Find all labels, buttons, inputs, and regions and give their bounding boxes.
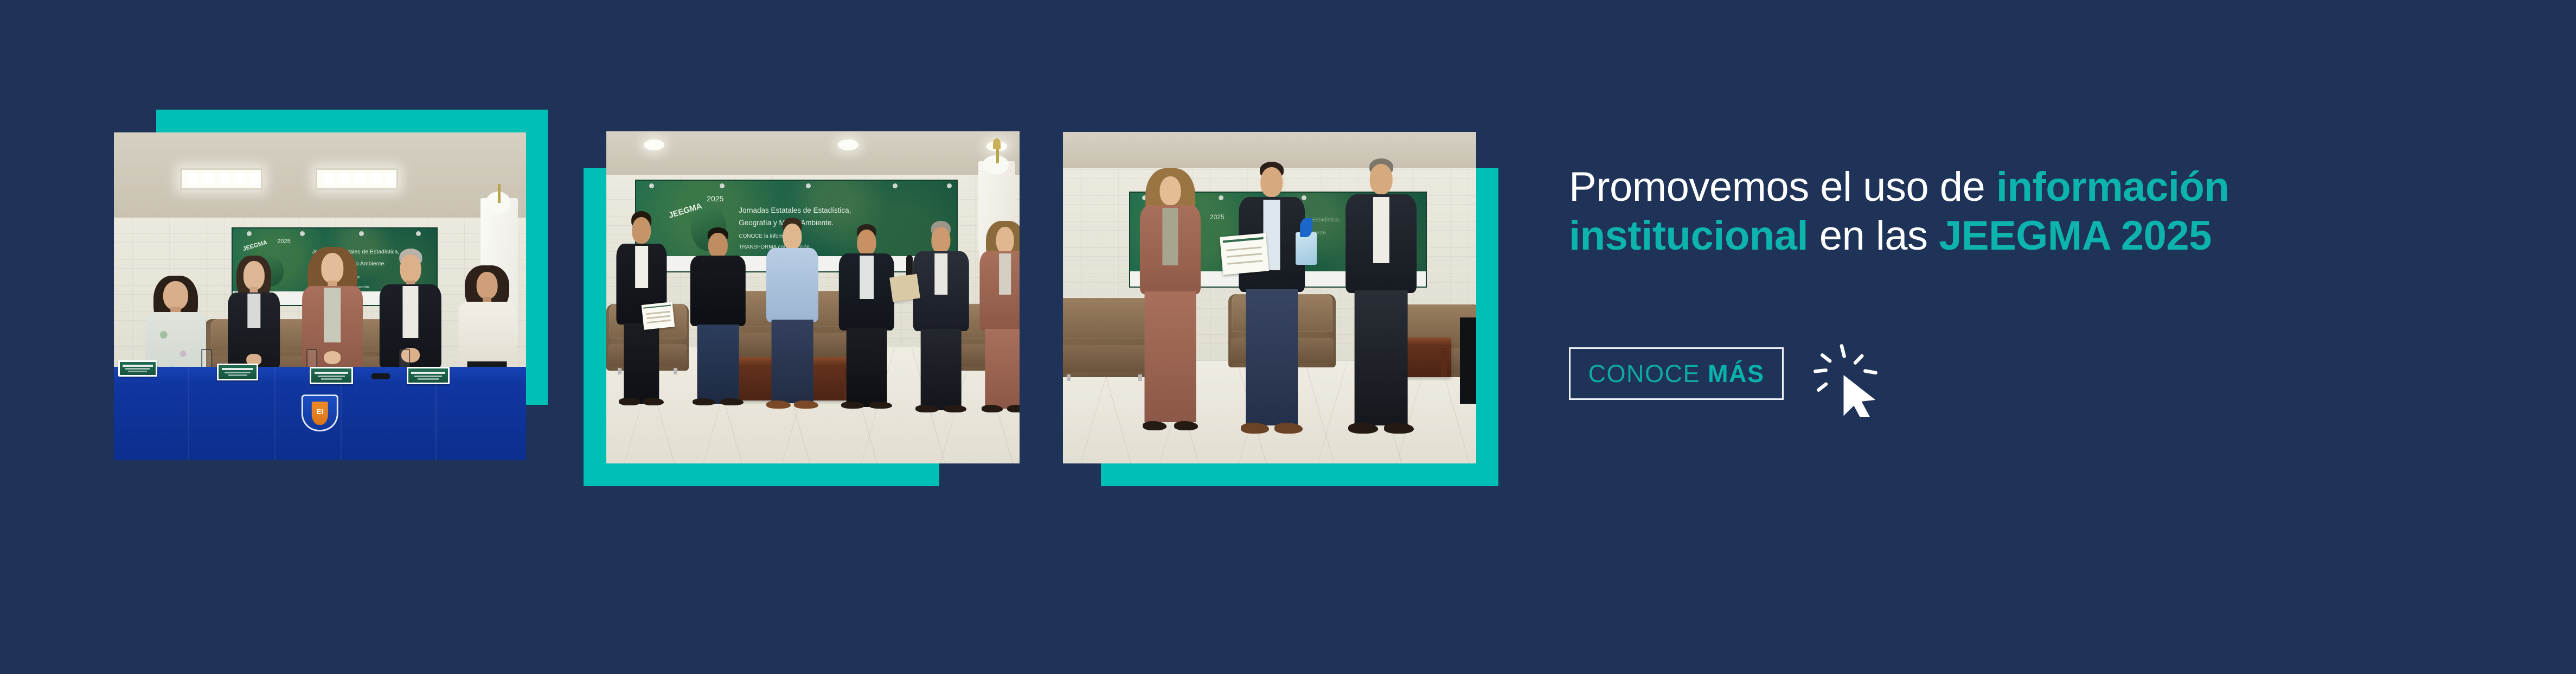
photo-2: JEEGMA 2025 Jornadas Estatales de Estadí… bbox=[606, 131, 1020, 463]
headline-line2-highlight-2: JEEGMA 2025 bbox=[1939, 213, 2212, 259]
headline-line2-regular: en las bbox=[1808, 213, 1939, 259]
person-6 bbox=[978, 221, 1020, 410]
speech-paper bbox=[890, 274, 921, 302]
conoce-mas-button-label: CONOCE MÁS bbox=[1588, 360, 1764, 388]
headline-line1-regular: Promovemos el uso de bbox=[1569, 164, 1996, 210]
banner-event-year: 2025 bbox=[707, 194, 723, 203]
headline-line-2: institucional en las JEEGMA 2025 bbox=[1569, 212, 2523, 260]
ceiling-light bbox=[838, 139, 858, 150]
person-2-awardee bbox=[1236, 162, 1307, 434]
ceiling bbox=[606, 131, 1020, 175]
name-plate bbox=[217, 364, 258, 380]
ceiling-light bbox=[644, 139, 664, 150]
photo-2-scene: JEEGMA 2025 Jornadas Estatales de Estadí… bbox=[606, 131, 1020, 463]
institution-crest: EI bbox=[302, 395, 338, 431]
person-3 bbox=[764, 218, 822, 407]
cta-label-regular: CONOCE bbox=[1588, 360, 1708, 387]
smartphone bbox=[371, 373, 390, 379]
headline-line2-highlight-1: institucional bbox=[1569, 213, 1808, 259]
certificate bbox=[1220, 233, 1269, 275]
banner-event-year: 2025 bbox=[1210, 213, 1225, 221]
person-1 bbox=[614, 211, 668, 404]
person-3 bbox=[1344, 158, 1418, 434]
person-2 bbox=[689, 227, 747, 403]
person-5-speaker bbox=[912, 221, 970, 410]
conoce-mas-button[interactable]: CONOCE MÁS bbox=[1569, 347, 1784, 400]
photo-1-scene: JEEGMA 2025 Jornadas Estatales de Estadí… bbox=[114, 132, 526, 460]
cta-label-strong: MÁS bbox=[1708, 360, 1765, 387]
headline-line1-highlight: información bbox=[1996, 164, 2229, 210]
photo-3-scene: JEEGMA 2025 Jornadas Estatales de Estadí… bbox=[1063, 132, 1476, 463]
tv-monitor bbox=[1460, 317, 1476, 404]
name-plate bbox=[407, 367, 450, 385]
headline-line-1: Promovemos el uso de información bbox=[1569, 163, 2523, 212]
banner-subtitle-line1: Jornadas Estatales de Estadística, bbox=[739, 206, 851, 214]
photo-collage: JEEGMA 2025 Jornadas Estatales de Estadí… bbox=[0, 0, 1573, 674]
certificate bbox=[641, 302, 675, 330]
photo-3: JEEGMA 2025 Jornadas Estatales de Estadí… bbox=[1063, 132, 1476, 463]
crest-monogram: EI bbox=[317, 408, 323, 416]
photo-1: JEEGMA 2025 Jornadas Estatales de Estadí… bbox=[114, 132, 526, 460]
person-1-award-presenter bbox=[1137, 168, 1203, 430]
award-trophy bbox=[1296, 232, 1317, 265]
click-cursor-icon bbox=[1810, 341, 1886, 417]
headline-block: Promovemos el uso de información institu… bbox=[1569, 163, 2523, 260]
person-4 bbox=[838, 224, 896, 407]
name-plate bbox=[310, 367, 353, 385]
name-plate bbox=[118, 360, 157, 377]
